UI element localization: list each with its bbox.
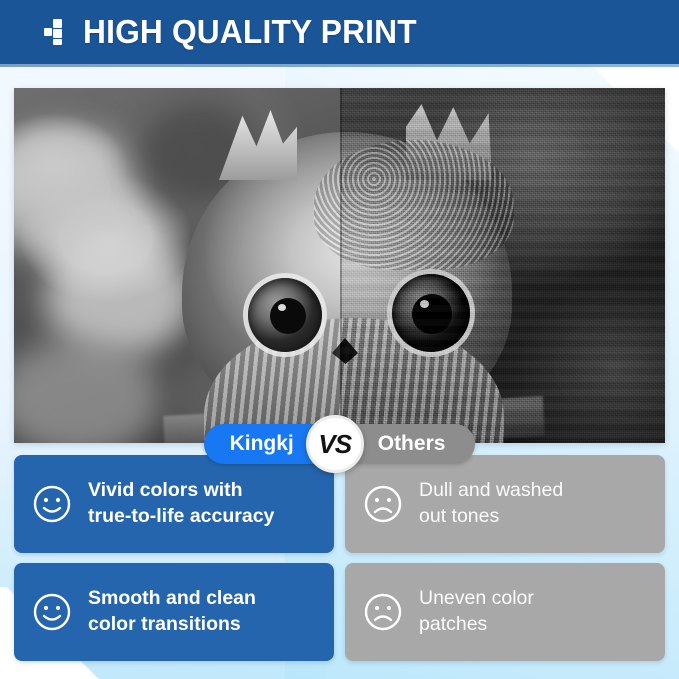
brand-pill-label: Kingkj xyxy=(230,432,294,456)
feature-card-text: Vivid colors with true-to-life accuracy xyxy=(88,478,274,529)
promo-page: HIGH QUALITY PRINT xyxy=(0,0,679,679)
comparison-photo xyxy=(14,88,665,443)
sad-face-icon xyxy=(363,484,403,524)
pixel-blocks-icon xyxy=(44,19,70,45)
photo-split-divider xyxy=(340,88,342,443)
versus-badge: Kingkj VS Others xyxy=(0,419,679,469)
photo-half-kingkj xyxy=(14,88,340,443)
feature-card-grid: Vivid colors with true-to-life accuracy … xyxy=(14,455,665,661)
sad-face-icon xyxy=(363,592,403,632)
vs-label: VS xyxy=(318,429,351,460)
smiley-face-icon xyxy=(32,592,72,632)
feature-card-con-1: Dull and washed out tones xyxy=(345,455,665,553)
feature-card-text: Dull and washed out tones xyxy=(419,478,563,529)
feature-card-text: Uneven color patches xyxy=(419,586,534,637)
smiley-face-icon xyxy=(32,484,72,524)
photo-half-others xyxy=(340,88,666,443)
vs-circle: VS xyxy=(306,415,364,473)
feature-card-text: Smooth and clean color transitions xyxy=(88,586,256,637)
feature-card-pro-1: Vivid colors with true-to-life accuracy xyxy=(14,455,334,553)
feature-card-con-2: Uneven color patches xyxy=(345,563,665,661)
page-header: HIGH QUALITY PRINT xyxy=(0,0,679,64)
feature-card-pro-2: Smooth and clean color transitions xyxy=(14,563,334,661)
page-title: HIGH QUALITY PRINT xyxy=(83,13,417,51)
brand-pill-label: Others xyxy=(378,432,446,456)
